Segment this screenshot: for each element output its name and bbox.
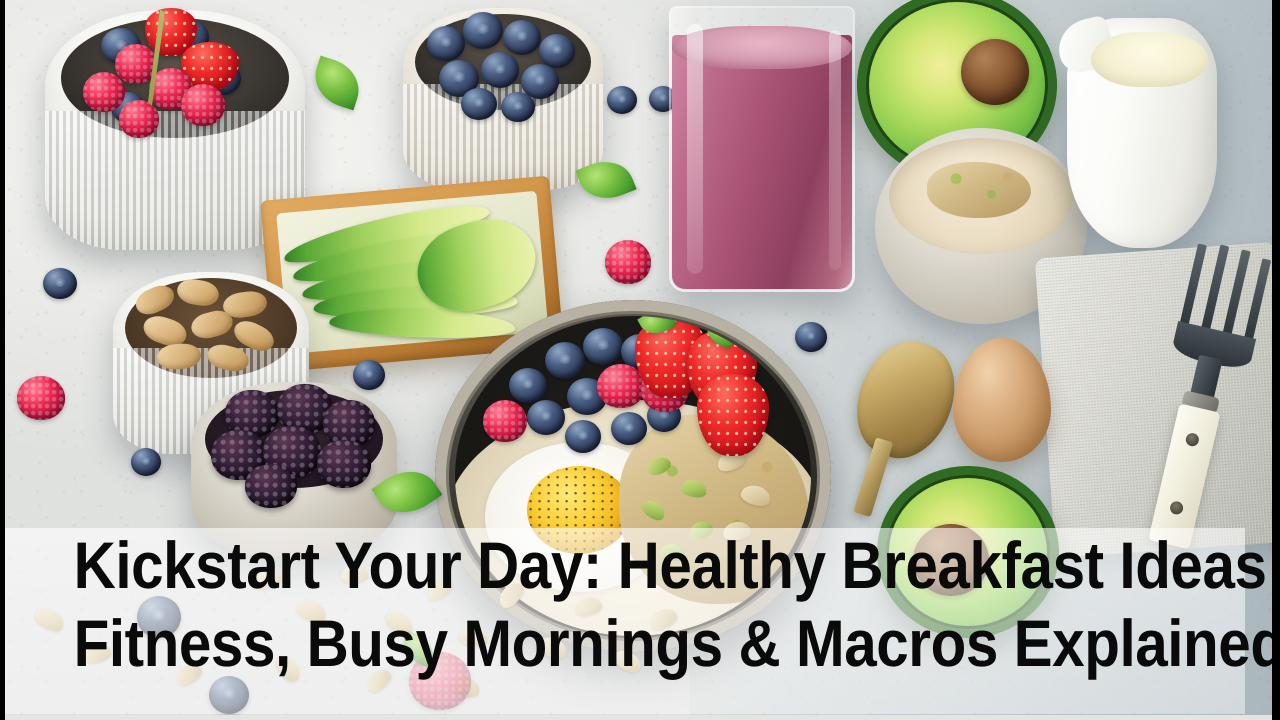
glass-highlight xyxy=(687,24,703,274)
loose-blueberry-3 xyxy=(353,360,385,390)
bottom-light-strip xyxy=(0,715,1280,720)
blackberry-pile xyxy=(201,382,387,500)
letterbox-left xyxy=(0,0,5,720)
loose-raspberry-1 xyxy=(17,376,65,420)
loose-blueberry-2 xyxy=(43,268,77,299)
letterbox-right xyxy=(1272,0,1280,720)
almond-pile xyxy=(121,274,301,382)
berry-smoothie-glass xyxy=(669,6,855,292)
brown-egg xyxy=(953,338,1051,462)
mint-leaf-1 xyxy=(308,56,367,111)
porridge-seeds xyxy=(927,162,1031,218)
video-thumbnail: Kickstart Your Day: Healthy Breakfast Id… xyxy=(0,0,1280,720)
milk-jug xyxy=(1067,18,1217,248)
blueberry-pile xyxy=(409,4,599,124)
loose-blueberry-5 xyxy=(795,322,827,352)
mixed-berry-pile xyxy=(53,6,301,156)
thumbnail-title: Kickstart Your Day: Healthy Breakfast Id… xyxy=(0,526,1280,682)
glass-highlight-2 xyxy=(829,30,841,270)
loose-raspberry-2 xyxy=(605,240,651,284)
title-line-1: Kickstart Your Day: Healthy Breakfast Id… xyxy=(74,526,1207,604)
loose-blueberry-4 xyxy=(131,448,161,476)
loose-blueberry-1 xyxy=(607,86,637,114)
title-line-2: Fitness, Busy Mornings & Macros Explaine… xyxy=(74,604,1207,682)
